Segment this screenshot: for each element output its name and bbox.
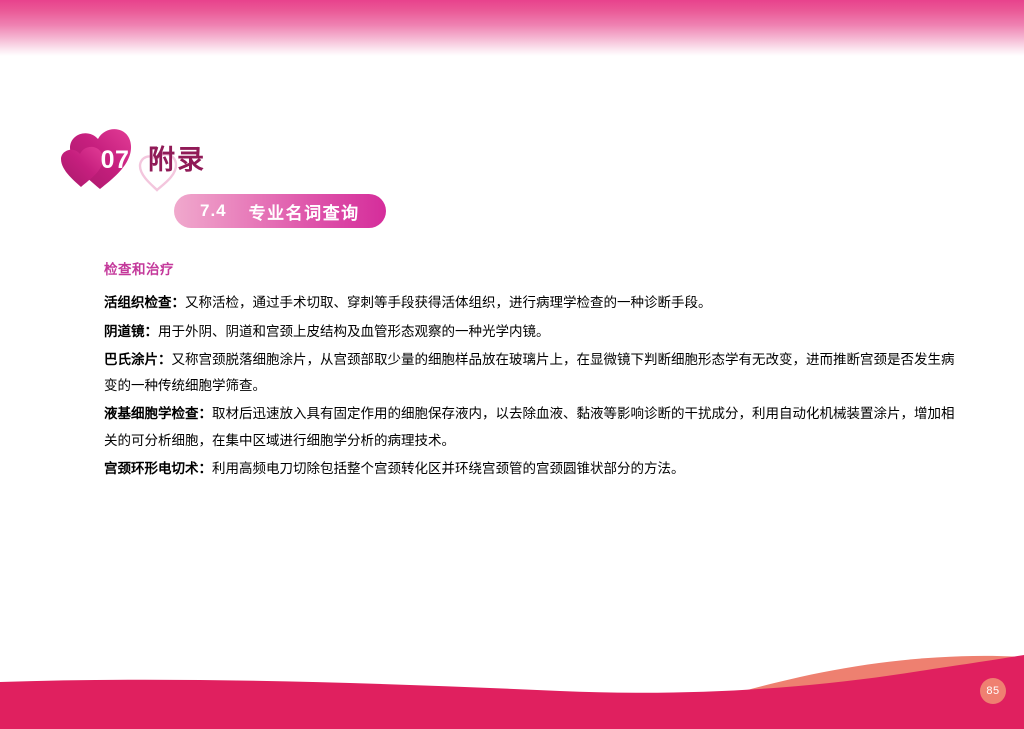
glossary-content: 检查和治疗 活组织检查：又称活检，通过手术切取、穿刺等手段获得活体组织，进行病理… (104, 262, 960, 484)
section-number: 7.4 (200, 201, 227, 221)
term-name: 活组织检查 (104, 295, 172, 310)
term-definition: 又称活检，通过手术切取、穿刺等手段获得活体组织，进行病理学检查的一种诊断手段。 (185, 295, 712, 310)
glossary-entry: 巴氏涂片：又称宫颈脱落细胞涂片，从宫颈部取少量的细胞样品放在玻璃片上，在显微镜下… (104, 347, 960, 400)
glossary-entry: 宫颈环形电切术：利用高频电刀切除包括整个宫颈转化区并环绕宫颈管的宫颈圆锥状部分的… (104, 456, 960, 482)
term-name: 宫颈环形电切术 (104, 461, 199, 476)
chapter-header: 07 附录 (58, 126, 478, 196)
term-definition: 用于外阴、阴道和宫颈上皮结构及血管形态观察的一种光学内镜。 (158, 324, 550, 339)
term-separator: ： (199, 461, 213, 476)
term-separator: ： (158, 352, 172, 367)
term-name: 液基细胞学检查 (104, 406, 199, 421)
term-name: 巴氏涂片 (104, 352, 158, 367)
page-number: 85 (986, 685, 999, 697)
top-decorative-banner (0, 0, 1024, 56)
term-separator: ： (172, 295, 186, 310)
group-heading: 检查和治疗 (104, 262, 960, 278)
chapter-title: 附录 (148, 138, 206, 177)
section-label: 专业名词查询 (249, 199, 360, 224)
footer-decorative-waves (0, 639, 1024, 729)
glossary-entry: 活组织检查：又称活检，通过手术切取、穿刺等手段获得活体组织，进行病理学检查的一种… (104, 290, 960, 316)
page-number-badge: 85 (980, 678, 1006, 704)
chapter-number: 07 (80, 146, 150, 175)
term-definition: 利用高频电刀切除包括整个宫颈转化区并环绕宫颈管的宫颈圆锥状部分的方法。 (212, 461, 685, 476)
term-separator: ： (145, 324, 159, 339)
term-definition: 又称宫颈脱落细胞涂片，从宫颈部取少量的细胞样品放在玻璃片上，在显微镜下判断细胞形… (104, 352, 955, 393)
term-definition: 取材后迅速放入具有固定作用的细胞保存液内，以去除血液、黏液等影响诊断的干扰成分，… (104, 406, 955, 447)
glossary-entry: 液基细胞学检查：取材后迅速放入具有固定作用的细胞保存液内，以去除血液、黏液等影响… (104, 401, 960, 454)
glossary-entry: 阴道镜：用于外阴、阴道和宫颈上皮结构及血管形态观察的一种光学内镜。 (104, 319, 960, 345)
term-separator: ： (199, 406, 213, 421)
term-name: 阴道镜 (104, 324, 145, 339)
section-title-pill: 7.4 专业名词查询 (174, 194, 386, 228)
